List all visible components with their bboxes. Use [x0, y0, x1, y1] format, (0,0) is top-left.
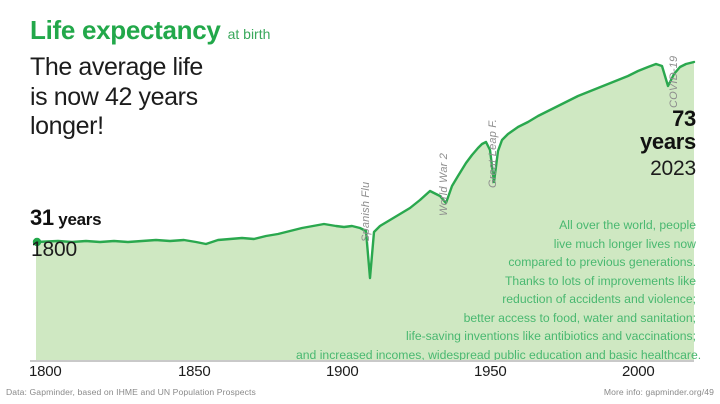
end-year-label: 2023 [622, 157, 696, 181]
description-line-7: life-saving inventions like antibiotics … [296, 327, 696, 346]
annotation-great-leap-forward: Great Leap F. [487, 119, 499, 188]
x-axis-tick-1950: 1950 [474, 363, 507, 380]
header: Life expectancy at birth The average lif… [30, 17, 450, 141]
chart-title-main: Life expectancy [30, 17, 221, 44]
x-axis-tick-1850: 1850 [178, 363, 211, 380]
headline-line-2: is now 42 years [30, 83, 450, 112]
annotation-world-war-2: World War 2 [438, 153, 450, 216]
footer: Data: Gapminder, based on IHME and UN Po… [0, 387, 720, 403]
headline-line-3: longer! [30, 112, 450, 141]
x-axis-tick-1900: 1900 [326, 363, 359, 380]
description-paragraph: All over the world, people live much lon… [296, 216, 696, 364]
description-line-2: live much longer lives now [296, 235, 696, 254]
description-line-3: compared to previous generations. [296, 253, 696, 272]
end-value-callout: 73 years 2023 [622, 108, 696, 181]
chart-title: Life expectancy at birth [30, 17, 450, 44]
start-value-label: 31 years [30, 205, 101, 231]
description-line-5: reduction of accidents and violence; [296, 290, 696, 309]
life-expectancy-infographic: Life expectancy at birth The average lif… [0, 0, 720, 404]
data-source-text: Data: Gapminder, based on IHME and UN Po… [6, 387, 256, 397]
start-value-callout: 31 years 1800 [30, 205, 101, 262]
description-line-4: Thanks to lots of improvements like [296, 272, 696, 291]
annotation-covid-19: COVID-19 [668, 56, 680, 108]
start-year-label: 1800 [31, 238, 101, 262]
x-axis-labels: 1800 1850 1900 1950 2000 [0, 363, 720, 385]
start-value-unit: years [54, 210, 101, 229]
description-line-1: All over the world, people [296, 216, 696, 235]
headline-text: The average life is now 42 years longer! [30, 53, 450, 141]
x-axis-line [30, 360, 694, 362]
description-line-6: better access to food, water and sanitat… [296, 309, 696, 328]
x-axis-tick-1800: 1800 [29, 363, 62, 380]
chart-title-subtitle: at birth [228, 26, 271, 42]
end-value-number: 73 [622, 108, 696, 130]
start-value-number: 31 [30, 205, 54, 230]
end-value-unit: years [622, 130, 696, 155]
x-axis-tick-2000: 2000 [622, 363, 655, 380]
headline-line-1: The average life [30, 53, 450, 82]
more-info-link[interactable]: More info: gapminder.org/49 [604, 387, 714, 397]
